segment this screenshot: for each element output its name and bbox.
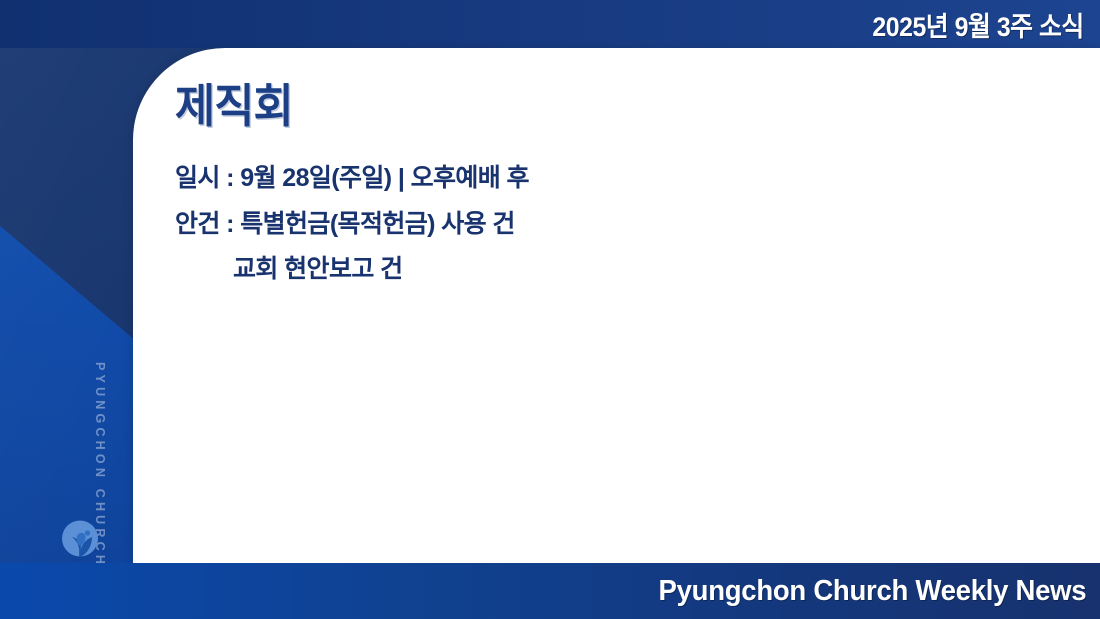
content-card: 제직회 일시 : 9월 28일(주일) | 오후예배 후 안건 : 특별헌금(목… [133,48,1100,563]
list-item: 안건 : 특별헌금(목적헌금) 사용 건 [175,202,1060,248]
footer-brand-title: Pyungchon Church Weekly News [658,575,1086,608]
page-title: 제직회 [175,82,1016,130]
header-band: 2025년 9월 3주 소식 [0,0,1100,48]
church-logo-icon [56,516,104,564]
content-card-inner: 제직회 일시 : 9월 28일(주일) | 오후예배 후 안건 : 특별헌금(목… [175,82,1060,293]
list-item: 일시 : 9월 28일(주일) | 오후예배 후 [175,156,1060,202]
slide-canvas: 2025년 9월 3주 소식 제직회 일시 : 9월 28일(주일) | 오후예… [0,0,1100,619]
header-date-title: 2025년 9월 3주 소식 [873,5,1084,44]
footer-band: Pyungchon Church Weekly News [0,563,1100,619]
list-item: 교회 현안보고 건 [175,247,1060,293]
detail-list: 일시 : 9월 28일(주일) | 오후예배 후 안건 : 특별헌금(목적헌금)… [175,156,1060,293]
